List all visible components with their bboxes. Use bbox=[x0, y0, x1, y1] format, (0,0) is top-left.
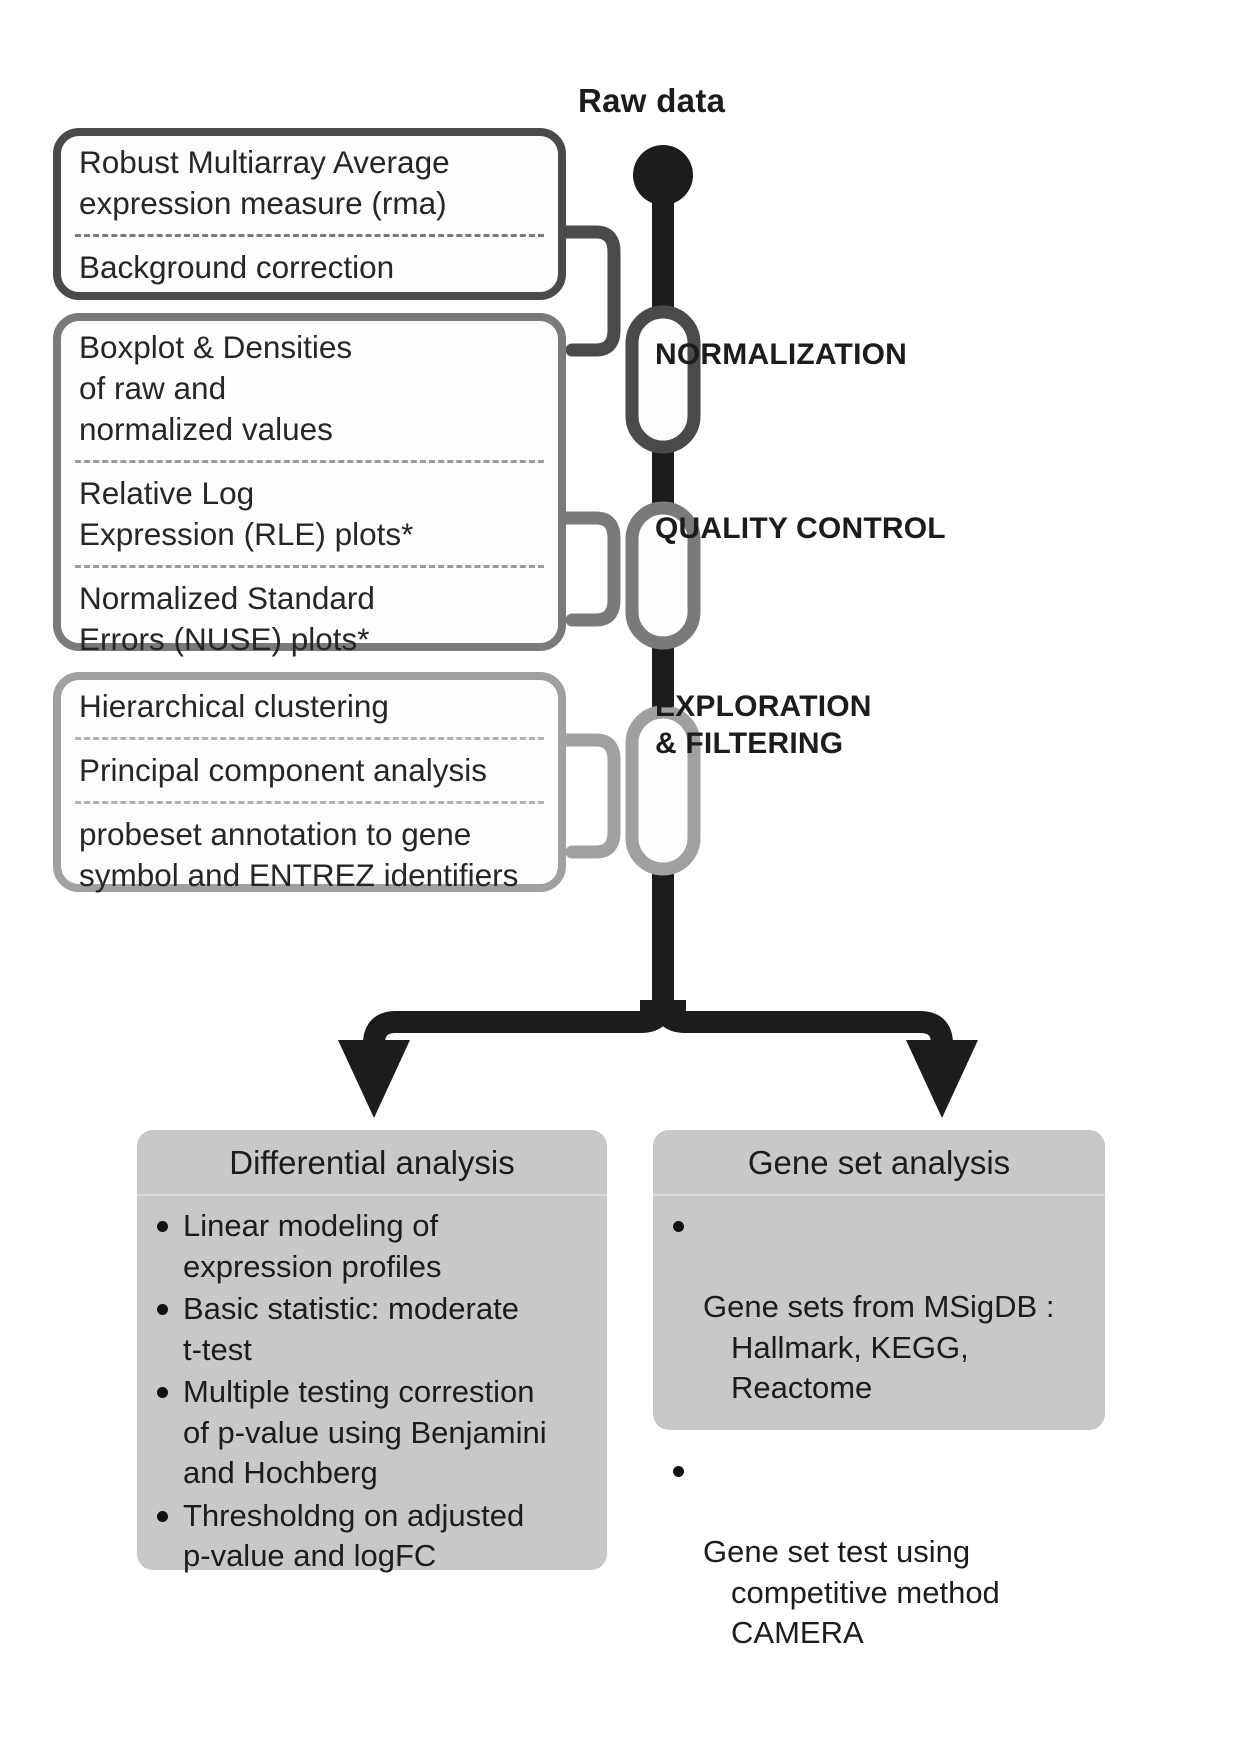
branch-right-line bbox=[663, 995, 942, 1058]
stage-item: Background correction bbox=[61, 241, 558, 294]
list-item: Linear modeling of expression profiles bbox=[151, 1206, 593, 1287]
list-item: Multiple testing correstion of p-value u… bbox=[151, 1372, 593, 1494]
stage-label-exploration: EXPLORATION & FILTERING bbox=[655, 688, 872, 762]
workflow-diagram: Raw data Robust Multiarray Average expre… bbox=[0, 0, 1240, 1753]
result-bullet-list: Linear modeling of expression profiles B… bbox=[137, 1196, 607, 1595]
stage-item: Hierarchical clustering bbox=[61, 680, 558, 733]
branch-left-arrowhead bbox=[338, 1040, 410, 1118]
bullet-icon bbox=[673, 1466, 684, 1477]
result-panel-title: Differential analysis bbox=[137, 1130, 607, 1196]
stage-item: Relative Log Expression (RLE) plots* bbox=[61, 467, 558, 561]
list-item-text: Basic statistic: moderate t-test bbox=[183, 1291, 519, 1367]
stage-box-exploration: Hierarchical clustering Principal compon… bbox=[53, 672, 566, 892]
list-item-text: Linear modeling of expression profiles bbox=[183, 1208, 441, 1284]
bullet-icon bbox=[157, 1221, 168, 1232]
list-item: Basic statistic: moderate t-test bbox=[151, 1289, 593, 1370]
list-item-continuation: competitive method CAMERA bbox=[703, 1573, 1091, 1654]
list-item: Gene set test using competitive method C… bbox=[667, 1451, 1091, 1694]
list-item: Gene sets from MSigDB : Hallmark, KEGG, … bbox=[667, 1206, 1091, 1449]
hook-normalization bbox=[566, 232, 614, 350]
result-bullet-list: Gene sets from MSigDB : Hallmark, KEGG, … bbox=[653, 1196, 1105, 1712]
stage-item: Normalized Standard Errors (NUSE) plots* bbox=[61, 572, 558, 666]
chain-link-normalization bbox=[632, 312, 694, 447]
result-panel-title: Gene set analysis bbox=[653, 1130, 1105, 1196]
hook-exploration bbox=[566, 740, 614, 852]
list-item: Thresholdng on adjusted p-value and logF… bbox=[151, 1496, 593, 1577]
stage-item: Boxplot & Densities of raw and normalize… bbox=[61, 321, 558, 456]
bullet-icon bbox=[157, 1387, 168, 1398]
branch-left-line bbox=[374, 995, 663, 1058]
bullet-icon bbox=[157, 1304, 168, 1315]
branch-right-arrowhead bbox=[906, 1040, 978, 1118]
stage-item: probeset annotation to gene symbol and E… bbox=[61, 808, 558, 902]
stage-label-normalization: NORMALIZATION bbox=[655, 336, 907, 373]
list-item-text: Thresholdng on adjusted p-value and logF… bbox=[183, 1498, 524, 1574]
list-item-continuation: Hallmark, KEGG, Reactome bbox=[703, 1328, 1091, 1409]
bullet-icon bbox=[157, 1511, 168, 1522]
page-title: Raw data bbox=[578, 82, 725, 120]
stage-box-normalization: Robust Multiarray Average expression mea… bbox=[53, 128, 566, 300]
item-divider bbox=[75, 737, 544, 740]
hook-quality-control bbox=[566, 518, 614, 620]
raw-data-node-icon bbox=[633, 145, 693, 205]
bullet-icon bbox=[673, 1221, 684, 1232]
stage-box-quality-control: Boxplot & Densities of raw and normalize… bbox=[53, 313, 566, 651]
item-divider bbox=[75, 234, 544, 237]
item-divider bbox=[75, 565, 544, 568]
list-item-text: Multiple testing correstion of p-value u… bbox=[183, 1374, 547, 1490]
stage-label-quality-control: QUALITY CONTROL bbox=[655, 510, 946, 547]
stage-item: Robust Multiarray Average expression mea… bbox=[61, 136, 558, 230]
list-item-text: Gene set test using bbox=[703, 1534, 970, 1569]
item-divider bbox=[75, 801, 544, 804]
item-divider bbox=[75, 460, 544, 463]
result-panel-gene-set-analysis: Gene set analysis Gene sets from MSigDB … bbox=[653, 1130, 1105, 1430]
result-panel-differential-analysis: Differential analysis Linear modeling of… bbox=[137, 1130, 607, 1570]
list-item-text: Gene sets from MSigDB : bbox=[703, 1289, 1054, 1324]
stage-item: Principal component analysis bbox=[61, 744, 558, 797]
